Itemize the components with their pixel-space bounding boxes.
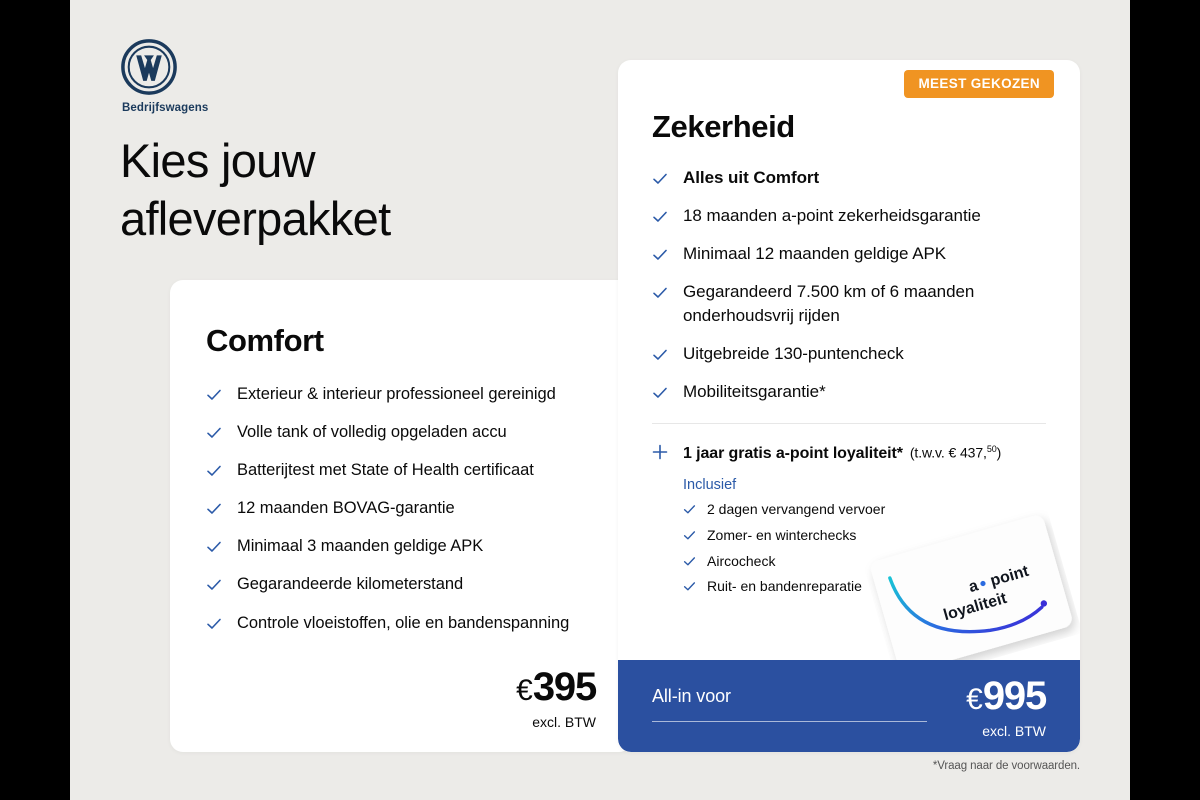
list-item: Minimaal 3 maanden geldige APK [206, 534, 596, 558]
zekerheid-feature-text: Alles uit Comfort [683, 166, 819, 191]
check-icon [206, 616, 222, 632]
comfort-feature-text: Minimaal 3 maanden geldige APK [237, 534, 483, 558]
zekerheid-package-card[interactable]: MEEST GEKOZEN Zekerheid Alles uit Comfor… [618, 60, 1080, 752]
status-badge: MEEST GEKOZEN [904, 70, 1054, 98]
comfort-feature-text: Controle vloeistoffen, olie en bandenspa… [237, 611, 569, 635]
list-item: Aircocheck [683, 552, 1046, 571]
loyalty-item-text: 2 dagen vervangend vervoer [707, 500, 885, 519]
check-icon [652, 209, 668, 225]
comfort-feature-list: Exterieur & interieur professioneel gere… [206, 382, 596, 635]
comfort-price-block: €395 excl. BTW [516, 667, 596, 730]
comfort-price-note: excl. BTW [516, 714, 596, 730]
brand-wordmark: Bedrijfswagens [120, 102, 320, 114]
zekerheid-feature-text: Uitgebreide 130-puntencheck [683, 342, 904, 367]
screenshot-stage: Bedrijfswagens Kies jouw afleverpakket C… [0, 0, 1200, 800]
check-icon [683, 580, 696, 593]
zekerheid-price-amount: 995 [983, 674, 1046, 718]
page-title-line-2: afleverpakket [120, 192, 390, 245]
inclusief-label: Inclusief [683, 477, 1046, 493]
list-item: Alles uit Comfort [652, 166, 1046, 191]
plus-icon [652, 444, 668, 460]
comfort-package-card[interactable]: Comfort Exterieur & interieur profession… [170, 280, 632, 752]
check-icon [652, 285, 668, 301]
list-item: 18 maanden a-point zekerheidsgarantie [652, 204, 1046, 229]
left-column: Bedrijfswagens Kies jouw afleverpakket C… [120, 0, 590, 800]
page-title: Kies jouw afleverpakket [120, 132, 560, 248]
zekerheid-feature-text: Gegarandeerd 7.500 km of 6 maanden onder… [683, 280, 1046, 330]
list-item: Ruit- en bandenreparatie [683, 577, 1046, 596]
page-title-line-1: Kies jouw [120, 134, 315, 187]
loyalty-item-list: 2 dagen vervangend vervoer Zomer- en win… [683, 500, 1046, 597]
zekerheid-price: €995 [966, 676, 1046, 716]
loyalty-item-text: Aircocheck [707, 552, 775, 571]
check-icon [683, 555, 696, 568]
loyalty-offer-row: 1 jaar gratis a-point loyaliteit* (t.w.v… [652, 442, 1046, 463]
euro-symbol: € [966, 683, 982, 716]
list-item: Uitgebreide 130-puntencheck [652, 342, 1046, 367]
loyalty-item-text: Zomer- en winterchecks [707, 526, 856, 545]
check-icon [206, 425, 222, 441]
list-item: 12 maanden BOVAG-garantie [206, 496, 596, 520]
list-item: Volle tank of volledig opgeladen accu [206, 420, 596, 444]
comfort-feature-text: 12 maanden BOVAG-garantie [237, 496, 455, 520]
list-item: Zomer- en winterchecks [683, 526, 1046, 545]
page-canvas: Bedrijfswagens Kies jouw afleverpakket C… [70, 0, 1130, 800]
check-icon [206, 539, 222, 555]
zekerheid-feature-list: Alles uit Comfort 18 maanden a-point zek… [652, 166, 1046, 405]
zekerheid-price-note: excl. BTW [966, 723, 1046, 739]
allin-label: All-in voor [652, 686, 731, 707]
list-item: Gegarandeerd 7.500 km of 6 maanden onder… [652, 280, 1046, 330]
list-item: Batterijtest met State of Health certifi… [206, 458, 596, 482]
zekerheid-feature-text: 18 maanden a-point zekerheidsgarantie [683, 204, 981, 229]
brand-block: Bedrijfswagens [120, 38, 320, 114]
allin-rule [652, 721, 927, 722]
volkswagen-logo-icon [120, 38, 178, 96]
loyalty-value: (t.w.v. € 437,50) [910, 444, 1001, 461]
section-divider [652, 423, 1046, 424]
comfort-feature-text: Gegarandeerde kilometerstand [237, 572, 463, 596]
check-icon [683, 529, 696, 542]
comfort-price: €395 [516, 667, 596, 707]
zekerheid-feature-text: Mobiliteitsgarantie* [683, 380, 826, 405]
check-icon [206, 387, 222, 403]
list-item: Mobiliteitsgarantie* [652, 380, 1046, 405]
comfort-feature-text: Exterieur & interieur professioneel gere… [237, 382, 556, 406]
comfort-feature-text: Volle tank of volledig opgeladen accu [237, 420, 507, 444]
loyalty-value-prefix: (t.w.v. € 437, [910, 445, 987, 461]
list-item: 2 dagen vervangend vervoer [683, 500, 1046, 519]
zekerheid-price-footer: All-in voor €995 excl. BTW [618, 660, 1080, 752]
list-item: Minimaal 12 maanden geldige APK [652, 242, 1046, 267]
loyalty-heading: 1 jaar gratis a-point loyaliteit* [683, 445, 903, 463]
list-item: Exterieur & interieur professioneel gere… [206, 382, 596, 406]
check-icon [652, 347, 668, 363]
list-item: Controle vloeistoffen, olie en bandenspa… [206, 611, 596, 635]
check-icon [206, 463, 222, 479]
zekerheid-feature-text: Minimaal 12 maanden geldige APK [683, 242, 946, 267]
loyalty-value-cents: 50 [987, 444, 997, 454]
loyalty-item-text: Ruit- en bandenreparatie [707, 577, 862, 596]
check-icon [652, 171, 668, 187]
zekerheid-card-title: Zekerheid [652, 110, 1046, 144]
comfort-feature-text: Batterijtest met State of Health certifi… [237, 458, 534, 482]
check-icon [206, 577, 222, 593]
footnote: *Vraag naar de voorwaarden. [933, 760, 1080, 772]
check-icon [652, 385, 668, 401]
check-icon [683, 503, 696, 516]
loyalty-value-suffix: ) [997, 445, 1002, 461]
check-icon [652, 247, 668, 263]
list-item: Gegarandeerde kilometerstand [206, 572, 596, 596]
comfort-card-title: Comfort [206, 324, 596, 358]
check-icon [206, 501, 222, 517]
comfort-price-amount: 395 [533, 665, 596, 709]
euro-symbol: € [516, 674, 532, 707]
zekerheid-price-block: €995 excl. BTW [966, 676, 1046, 739]
